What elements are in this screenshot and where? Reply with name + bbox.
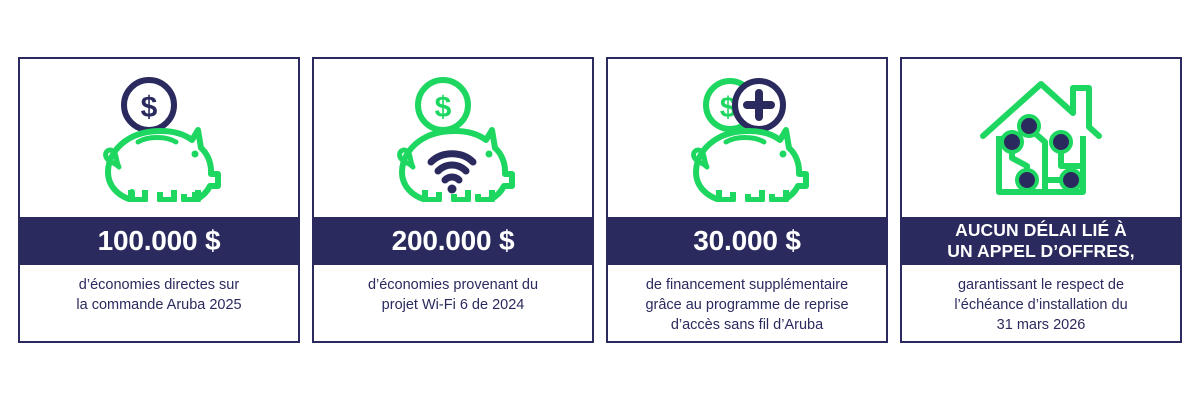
- card-2-caption-line-2: projet Wi-Fi 6 de 2024: [322, 295, 584, 315]
- stat-card-3: $: [606, 57, 888, 343]
- smart-house-circuit-icon: [975, 74, 1107, 202]
- card-2-caption-line-1: d’économies provenant du: [322, 275, 584, 295]
- card-3-caption-line-3: d’accès sans fil d’Aruba: [616, 315, 878, 335]
- stat-card-4: AUCUN DÉLAI LIÉ À UN APPEL D’OFFRES, gar…: [900, 57, 1182, 343]
- card-4-headline-line-2: UN APPEL D’OFFRES,: [947, 241, 1135, 262]
- card-3-caption-line-1: de financement supplémentaire: [616, 275, 878, 295]
- card-3-caption-line-2: grâce au programme de reprise: [616, 295, 878, 315]
- card-4-caption-line-1: garantissant le respect de: [910, 275, 1172, 295]
- piggy-bank-with-wifi-icon: $: [388, 74, 518, 202]
- infographic-stats-panel: $: [0, 0, 1200, 400]
- card-2-caption: d’économies provenant du projet Wi-Fi 6 …: [314, 265, 592, 341]
- stat-card-1: $: [18, 57, 300, 343]
- card-3-caption: de financement supplémentaire grâce au p…: [608, 265, 886, 341]
- svg-text:$: $: [141, 91, 158, 124]
- card-1-value-band: 100.000 $: [20, 217, 298, 265]
- card-4-caption: garantissant le respect de l’échéance d’…: [902, 265, 1180, 341]
- card-4-caption-line-2: l’échéance d’installation du: [910, 295, 1172, 315]
- card-4-icon-area: [902, 59, 1180, 217]
- card-3-icon-area: $: [608, 59, 886, 217]
- piggy-bank-with-dollar-coin-icon: $: [94, 74, 224, 202]
- card-2-value-band: 200.000 $: [314, 217, 592, 265]
- stat-cards-row: $: [18, 57, 1182, 343]
- card-2-value: 200.000 $: [392, 226, 515, 255]
- card-1-icon-area: $: [20, 59, 298, 217]
- stat-card-2: $: [312, 57, 594, 343]
- card-3-value-band: 30.000 $: [608, 217, 886, 265]
- piggy-bank-with-dollar-plus-icon: $: [682, 74, 812, 202]
- card-1-value: 100.000 $: [98, 226, 221, 255]
- card-4-value-band: AUCUN DÉLAI LIÉ À UN APPEL D’OFFRES,: [902, 217, 1180, 265]
- svg-text:$: $: [435, 91, 452, 124]
- card-1-caption-line-2: la commande Aruba 2025: [28, 295, 290, 315]
- card-4-caption-line-3: 31 mars 2026: [910, 315, 1172, 335]
- card-3-value: 30.000 $: [693, 226, 800, 255]
- card-4-headline-line-1: AUCUN DÉLAI LIÉ À: [955, 220, 1127, 241]
- card-2-icon-area: $: [314, 59, 592, 217]
- card-1-caption-line-1: d’économies directes sur: [28, 275, 290, 295]
- card-1-caption: d’économies directes sur la commande Aru…: [20, 265, 298, 341]
